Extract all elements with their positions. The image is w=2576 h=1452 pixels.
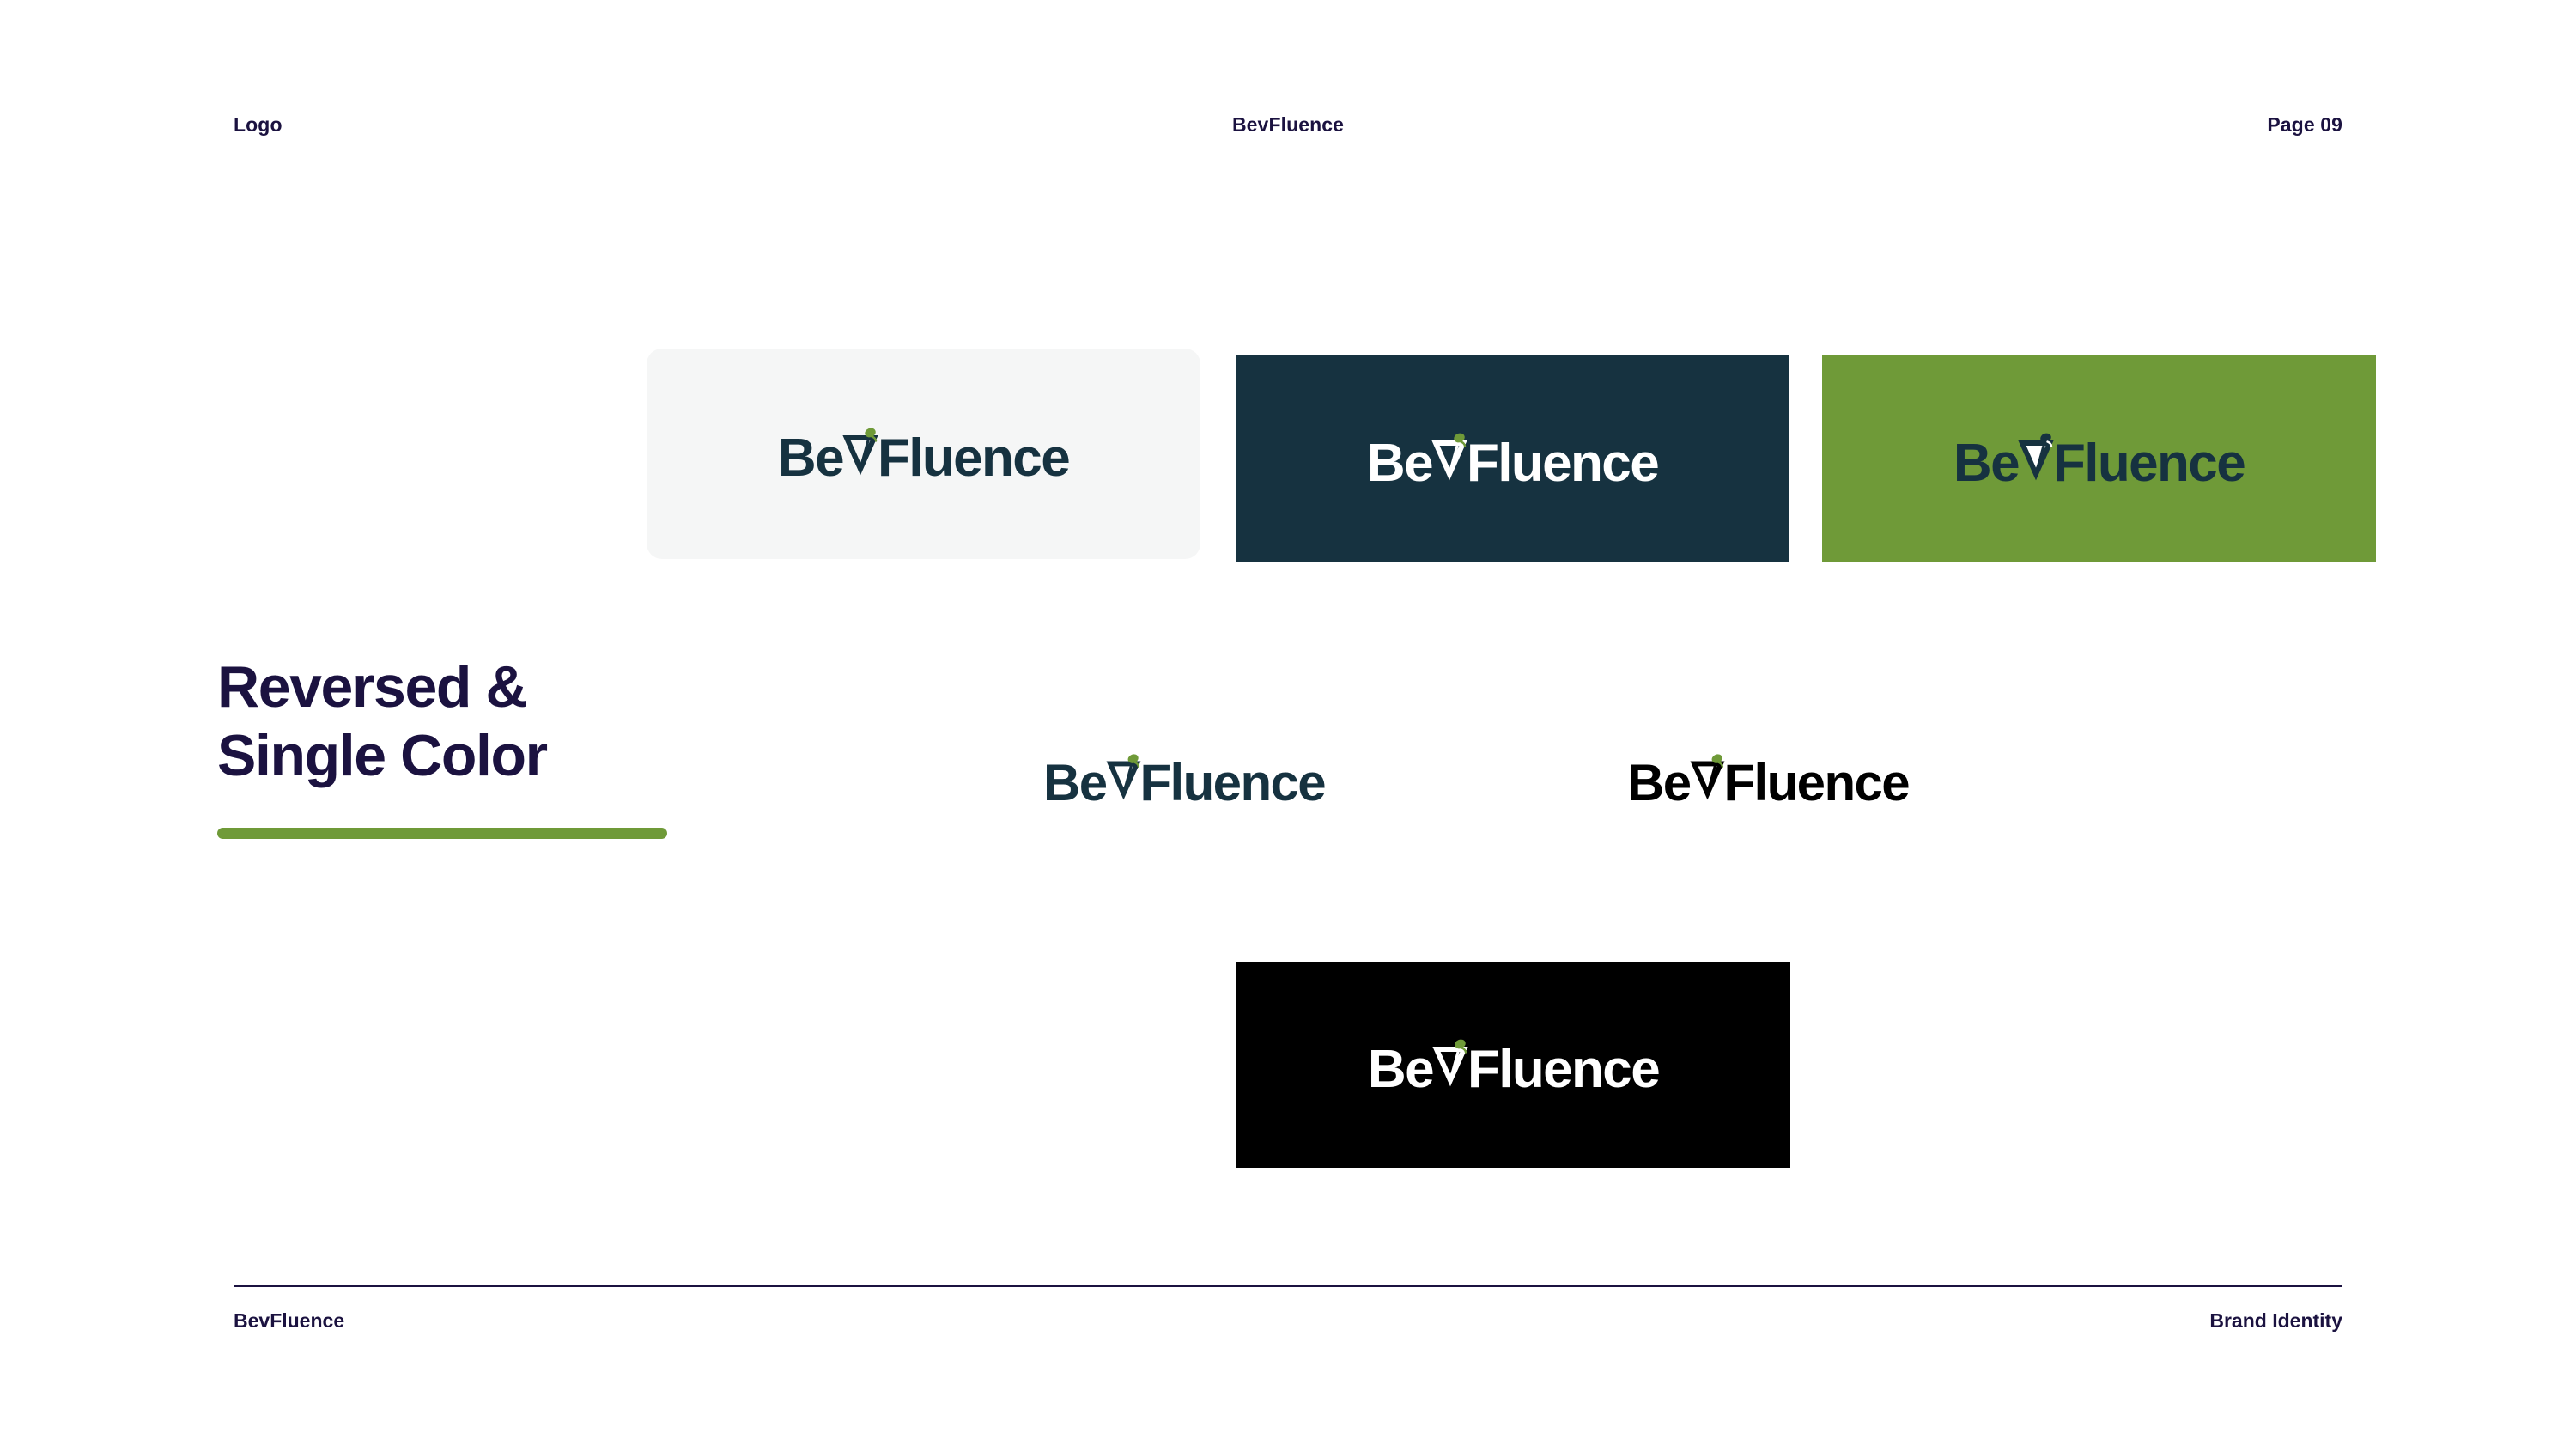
- cocktail-glass-v-icon: [1107, 749, 1140, 800]
- header-left-label: Logo: [234, 113, 283, 137]
- wordmark-part2: Fluence: [1724, 757, 1910, 809]
- footer-row: BevFluence Brand Identity: [234, 1309, 2342, 1333]
- cocktail-glass-v-icon: [2019, 428, 2053, 481]
- wordmark-part1: Be: [1367, 437, 1432, 490]
- wordmark-on-green: Be Fluence: [1953, 428, 2245, 490]
- accent-rule: [217, 828, 667, 839]
- logo-swatch-navy: Be Fluence: [1236, 355, 1789, 562]
- single-color-logo-row: Be Fluence Be: [1043, 749, 2108, 826]
- footer-right-label: Brand Identity: [2209, 1309, 2342, 1333]
- wordmark-part2: Fluence: [1140, 757, 1326, 809]
- wordmark-navy-mono: Be Fluence: [1043, 749, 1325, 809]
- wordmark-part1: Be: [1368, 1043, 1433, 1097]
- logo-variant-black-mono: Be Fluence: [1627, 749, 1909, 809]
- section-title-line-1: Reversed &: [217, 653, 818, 721]
- wordmark-part1: Be: [1043, 757, 1107, 809]
- wordmark-on-black: Be Fluence: [1368, 1034, 1659, 1097]
- cocktail-glass-v-icon: [843, 422, 878, 476]
- cocktail-glass-v-icon: [1432, 428, 1467, 481]
- section-title-line-2: Single Color: [217, 721, 818, 790]
- logo-swatch-row: Be Fluence Be: [647, 349, 2376, 572]
- logo-swatch-green: Be Fluence: [1822, 355, 2376, 562]
- wordmark-part2: Fluence: [878, 432, 1069, 485]
- wordmark-on-light: Be Fluence: [778, 422, 1069, 485]
- cocktail-glass-v-icon: [1433, 1034, 1467, 1087]
- wordmark-part1: Be: [778, 432, 843, 485]
- wordmark-part1: Be: [1627, 757, 1691, 809]
- page-header: Logo BevFluence Page 09: [234, 110, 2342, 139]
- wordmark-part2: Fluence: [1467, 437, 1658, 490]
- header-page-number: Page 09: [2267, 113, 2342, 137]
- logo-swatch-light: Be Fluence: [647, 349, 1200, 559]
- logo-swatch-black: Be Fluence: [1236, 962, 1790, 1168]
- wordmark-part2: Fluence: [1467, 1043, 1659, 1097]
- footer-divider: [234, 1285, 2342, 1287]
- header-center-label: BevFluence: [1232, 113, 1344, 137]
- wordmark-part1: Be: [1953, 437, 2019, 490]
- wordmark-black-mono: Be Fluence: [1627, 749, 1909, 809]
- page-footer: BevFluence Brand Identity: [234, 1285, 2342, 1340]
- logo-variant-navy-mono: Be Fluence: [1043, 749, 1325, 809]
- cocktail-glass-v-icon: [1691, 749, 1724, 800]
- footer-left-label: BevFluence: [234, 1309, 344, 1333]
- wordmark-part2: Fluence: [2053, 437, 2245, 490]
- section-heading-block: Reversed & Single Color: [217, 653, 818, 839]
- wordmark-on-navy: Be Fluence: [1367, 428, 1658, 490]
